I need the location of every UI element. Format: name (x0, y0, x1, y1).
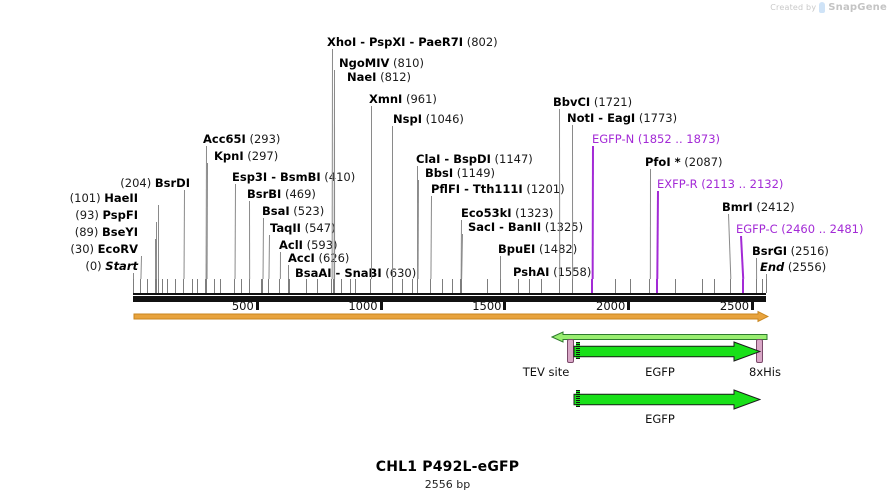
site-tick-minor-9 (261, 279, 262, 293)
leader-line-taqii (268, 235, 270, 279)
site-tick-minor-0 (147, 279, 148, 293)
enzyme-name-xmni: XmnI (369, 92, 402, 106)
enzyme-name-end: End (760, 260, 784, 274)
enzyme-label-nspi[interactable]: NspI (1046) (393, 113, 464, 125)
enzyme-position-ngomiv: (810) (389, 56, 424, 70)
site-tick-egfp_c[interactable] (742, 279, 744, 293)
enzyme-position-bmri: (2412) (753, 200, 795, 214)
site-tick-minor-1 (162, 279, 163, 293)
enzyme-label-bsaai[interactable]: BsaAI - SnaBI (630) (295, 267, 416, 279)
enzyme-position-saci: (1325) (541, 220, 583, 234)
leader-line-xmni (371, 106, 372, 279)
enzyme-label-bsrbi[interactable]: BsrBI (469) (247, 188, 316, 200)
site-tick-ecorv[interactable] (140, 279, 141, 293)
enzyme-name-bsrgi: BsrGI (752, 244, 787, 258)
leader-line-bsai (263, 218, 264, 279)
site-tick-taqii[interactable] (268, 279, 269, 293)
site-tick-bsrdi[interactable] (183, 279, 184, 293)
enzyme-label-bsai[interactable]: BsaI (523) (262, 205, 324, 217)
enzyme-name-bseyi: BseYI (102, 225, 138, 239)
enzyme-position-naei: (812) (376, 70, 411, 84)
site-tick-pshai[interactable] (518, 279, 519, 293)
enzyme-position-xmni: (961) (402, 92, 437, 106)
leader-line-bbsi (418, 180, 419, 279)
enzyme-name-xhoi: XhoI - PspXI - PaeR7I (327, 35, 463, 49)
enzyme-name-eco53ki: Eco53kI (461, 206, 512, 220)
site-tick-bsrgi[interactable] (756, 279, 757, 293)
enzyme-name-kpni: KpnI (214, 149, 244, 163)
leader-line-pflfi (430, 196, 432, 279)
enzyme-position-ecorv: (30) (70, 242, 97, 256)
site-tick-minor-2 (167, 279, 168, 293)
site-tick-minor-21 (541, 279, 542, 293)
site-tick-minor-10 (306, 279, 307, 293)
enzyme-name-pshai: PshAI (513, 265, 549, 279)
enzyme-position-start: (0) (85, 259, 105, 273)
site-tick-minor-15 (402, 279, 403, 293)
enzyme-name-bbsi: BbsI (425, 166, 453, 180)
site-tick-bpuei[interactable] (500, 279, 501, 293)
enzyme-position-pshai: (1558) (549, 265, 591, 279)
enzyme-name-taqii: TaqII (270, 221, 301, 235)
site-tick-xmni[interactable] (370, 279, 371, 293)
enzyme-label-ngomiv[interactable]: NgoMIV (810) (339, 57, 424, 69)
site-tick-naei[interactable] (334, 279, 335, 293)
egfp-main-arrow[interactable] (573, 341, 761, 362)
site-tick-minor-12 (341, 279, 342, 293)
enzyme-label-acli[interactable]: AclI (593) (279, 239, 338, 251)
arrow-hatch-0 (576, 342, 580, 359)
site-tick-pspfi[interactable] (156, 279, 157, 293)
enzyme-name-noti: NotI - EagI (567, 111, 635, 125)
enzyme-position-nspi: (1046) (422, 112, 464, 126)
enzyme-position-exfp_r: (2113 .. 2132) (698, 177, 784, 191)
enzyme-label-taqii[interactable]: TaqII (547) (270, 222, 336, 234)
enzyme-position-bsrdi: (204) (120, 176, 155, 190)
enzyme-label-egfp_n[interactable]: EGFP-N (1852 .. 1873) (592, 133, 720, 145)
leader-line-esp3i (235, 184, 236, 279)
enzyme-name-bsrbi: BsrBI (247, 187, 281, 201)
enzyme-label-acci[interactable]: AccI (626) (288, 252, 349, 264)
site-tick-minor-5 (197, 279, 198, 293)
site-tick-bbvci[interactable] (559, 279, 560, 293)
leader-line-bsrdi (184, 190, 185, 279)
leader-line-noti (572, 125, 573, 279)
enzyme-position-bbvci: (1721) (590, 95, 632, 109)
enzyme-position-bsrgi: (2516) (787, 244, 829, 258)
enzyme-label-saci[interactable]: SacI - BanII (1325) (468, 221, 583, 233)
enzyme-name-acli: AclI (279, 238, 303, 252)
leader-line-pfoi (650, 169, 651, 279)
leader-line-egfp_n (592, 146, 594, 279)
enzyme-label-kpni[interactable]: KpnI (297) (214, 150, 278, 162)
enzyme-label-clai[interactable]: ClaI - BspDI (1147) (416, 153, 533, 165)
enzyme-position-egfp_n: (1852 .. 1873) (634, 132, 720, 146)
site-tick-minor-20 (529, 279, 530, 293)
site-tick-kpni[interactable] (206, 279, 207, 293)
site-tick-saci[interactable] (461, 279, 462, 293)
enzyme-label-haeii[interactable]: (101) HaeII (70, 192, 138, 204)
site-tick-minor-24 (675, 279, 676, 293)
leader-line-haeii (158, 205, 159, 279)
enzyme-position-bsrbi: (469) (281, 187, 316, 201)
leader-line-bmri (728, 214, 731, 279)
snapgene-watermark: Created by SnapGene (770, 2, 887, 13)
site-tick-minor-3 (175, 279, 176, 293)
enzyme-label-acc65i[interactable]: Acc65I (293) (203, 133, 280, 145)
enzyme-label-xmni[interactable]: XmnI (961) (369, 93, 437, 105)
site-tick-bsrbi[interactable] (249, 279, 250, 293)
enzyme-name-egfp_n: EGFP-N (592, 132, 634, 146)
leader-line-acci (288, 265, 289, 279)
feature-label-egfp-lower-label: EGFP (645, 412, 675, 426)
site-tick-pfoi[interactable] (649, 279, 650, 293)
enzyme-name-start: Start (105, 259, 138, 273)
enzyme-name-egfp_c: EGFP-C (736, 222, 778, 236)
leader-line-bsrbi (249, 201, 250, 279)
enzyme-position-end: (2556) (784, 260, 826, 274)
enzyme-label-start[interactable]: (0) Start (85, 260, 138, 272)
enzyme-position-bpuei: (1482) (535, 242, 577, 256)
site-tick-minor-8 (241, 279, 242, 293)
enzyme-position-taqii: (547) (301, 221, 336, 235)
plasmid-size-label: 2556 bp (0, 478, 895, 491)
site-tick-minor-22 (615, 279, 616, 293)
site-tick-xhoi[interactable] (331, 279, 332, 293)
site-tick-nspi[interactable] (392, 279, 393, 293)
enzyme-name-bsaai: BsaAI - SnaBI (295, 266, 382, 280)
enzyme-position-kpni: (297) (244, 149, 279, 163)
enzyme-name-nspi: NspI (393, 112, 422, 126)
enzyme-position-esp3i: (410) (321, 170, 356, 184)
enzyme-label-naei[interactable]: NaeI (812) (347, 71, 411, 83)
enzyme-position-haeii: (101) (70, 191, 105, 205)
page-title: CHL1 P492L-eGFP (0, 459, 895, 475)
enzyme-name-exfp_r: EXFP-R (657, 177, 698, 191)
site-tick-minor-6 (214, 279, 215, 293)
enzyme-name-bsrdi: BsrDI (155, 176, 190, 190)
site-tick-pflfi[interactable] (430, 279, 431, 293)
enzyme-name-acci: AccI (288, 251, 315, 265)
enzyme-name-ecorv: EcoRV (98, 242, 138, 256)
enzyme-position-acc65i: (293) (246, 132, 281, 146)
site-tick-noti[interactable] (572, 279, 573, 293)
enzyme-name-pspfi: PspFI (103, 208, 138, 222)
enzyme-label-end[interactable]: End (2556) (760, 261, 826, 273)
enzyme-name-saci: SacI - BanII (468, 220, 541, 234)
enzyme-name-bpuei: BpuEI (498, 242, 535, 256)
site-tick-exfp_r[interactable] (656, 279, 658, 293)
enzyme-label-egfp_c[interactable]: EGFP-C (2460 .. 2481) (736, 223, 863, 235)
enzyme-label-bseyi[interactable]: (89) BseYI (75, 226, 138, 238)
enzyme-position-pfoi: (2087) (681, 155, 723, 169)
site-tick-minor-23 (630, 279, 631, 293)
title-block: CHL1 P492L-eGFP 2556 bp (0, 459, 895, 491)
enzyme-name-bmri: BmrI (722, 200, 753, 214)
leader-line-egfp_c (740, 236, 744, 279)
leader-line-acli (280, 252, 281, 279)
enzyme-position-noti: (1773) (635, 111, 677, 125)
enzyme-label-esp3i[interactable]: Esp3I - BsmBI (410) (232, 171, 355, 183)
enzyme-position-bseyi: (89) (75, 225, 102, 239)
enzyme-label-pshai[interactable]: PshAI (1558) (513, 266, 591, 278)
feature-label-egfp-main-label: EGFP (645, 365, 675, 379)
leader-line-bsrgi (756, 258, 757, 279)
enzyme-name-bbvci: BbvCI (553, 95, 590, 109)
site-tick-minor-18 (452, 279, 453, 293)
site-tick-bsaai[interactable] (289, 279, 290, 293)
watermark-prefix: Created by (770, 3, 816, 12)
site-tick-egfp_n[interactable] (591, 279, 593, 293)
site-tick-minor-7 (220, 279, 221, 293)
enzyme-name-esp3i: Esp3I - BsmBI (232, 170, 321, 184)
site-tick-minor-25 (702, 279, 703, 293)
enzyme-label-pflfi[interactable]: PflFI - Tth111I (1201) (431, 183, 565, 195)
enzyme-label-xhoi[interactable]: XhoI - PspXI - PaeR7I (802) (327, 36, 498, 48)
leader-line-saci (461, 234, 463, 279)
enzyme-name-pfoi: PfoI * (645, 155, 681, 169)
feature-label-tev-site: TEV site (523, 365, 570, 379)
leader-line-bbvci (559, 109, 560, 279)
enzyme-position-egfp_c: (2460 .. 2481) (778, 222, 864, 236)
enzyme-label-bsrdi[interactable]: (204) BsrDI (120, 177, 190, 189)
site-tick-minor-27 (762, 279, 763, 293)
enzyme-label-pfoi[interactable]: PfoI * (2087) (645, 156, 723, 168)
enzyme-label-ecorv[interactable]: (30) EcoRV (70, 243, 138, 255)
site-tick-start[interactable] (133, 279, 134, 293)
enzyme-position-clai: (1147) (491, 152, 533, 166)
enzyme-name-pflfi: PflFI - Tth111I (431, 182, 523, 196)
enzyme-position-eco53ki: (1323) (512, 206, 554, 220)
site-tick-minor-19 (487, 279, 488, 293)
feature-label-8xhis: 8xHis (749, 365, 781, 379)
enzyme-position-bsaai: (630) (382, 266, 417, 280)
site-tick-minor-26 (714, 279, 715, 293)
enzyme-label-exfp_r[interactable]: EXFP-R (2113 .. 2132) (657, 178, 783, 190)
enzyme-label-bbsi[interactable]: BbsI (1149) (425, 167, 495, 179)
enzyme-label-eco53ki[interactable]: Eco53kI (1323) (461, 207, 553, 219)
site-tick-minor-17 (442, 279, 443, 293)
site-tick-bmri[interactable] (730, 279, 731, 293)
enzyme-position-bbsi: (1149) (453, 166, 495, 180)
site-tick-end[interactable] (766, 279, 767, 293)
snapgene-logo-icon (819, 2, 825, 13)
egfp-lower-arrow[interactable] (573, 389, 761, 410)
site-tick-minor-13 (350, 279, 351, 293)
enzyme-name-bsai: BsaI (262, 204, 290, 218)
leader-line-ecorv (140, 256, 142, 279)
enzyme-name-haeii: HaeII (104, 191, 138, 205)
enzyme-name-clai: ClaI - BspDI (416, 152, 491, 166)
plasmid-map-canvas: Created by SnapGene (0) Start(30) EcoRV(… (0, 0, 895, 501)
watermark-brand: SnapGene (828, 2, 887, 13)
enzyme-label-noti[interactable]: NotI - EagI (1773) (567, 112, 677, 124)
enzyme-position-xhoi: (802) (463, 35, 498, 49)
site-tick-minor-4 (192, 279, 193, 293)
site-tick-haeii[interactable] (158, 279, 159, 293)
enzyme-label-bpuei[interactable]: BpuEI (1482) (498, 243, 577, 255)
enzyme-label-pspfi[interactable]: (93) PspFI (75, 209, 138, 221)
leader-line-pspfi (156, 222, 157, 279)
enzyme-label-bmri[interactable]: BmrI (2412) (722, 201, 795, 213)
enzyme-position-bsai: (523) (290, 204, 325, 218)
orange-backbone-arrow[interactable] (133, 309, 769, 324)
enzyme-name-acc65i: Acc65I (203, 132, 246, 146)
enzyme-name-ngomiv: NgoMIV (339, 56, 389, 70)
leader-line-naei (334, 84, 335, 279)
enzyme-name-naei: NaeI (347, 70, 376, 84)
site-tick-minor-14 (355, 279, 356, 293)
leader-line-kpni (207, 163, 208, 279)
leader-line-bpuei (500, 256, 501, 279)
leader-line-nspi (392, 126, 393, 279)
leader-line-exfp_r (656, 191, 658, 279)
site-tick-esp3i[interactable] (234, 279, 235, 293)
site-tick-acli[interactable] (279, 279, 280, 293)
site-tick-minor-11 (317, 279, 318, 293)
enzyme-label-bsrgi[interactable]: BsrGI (2516) (752, 245, 829, 257)
arrow-hatch-1 (576, 390, 580, 407)
sequence-ruler-bar[interactable] (133, 295, 766, 302)
site-tick-minor-16 (412, 279, 413, 293)
enzyme-label-bbvci[interactable]: BbvCI (1721) (553, 96, 632, 108)
enzyme-position-pspfi: (93) (75, 208, 102, 222)
site-tick-bbsi[interactable] (417, 279, 418, 293)
